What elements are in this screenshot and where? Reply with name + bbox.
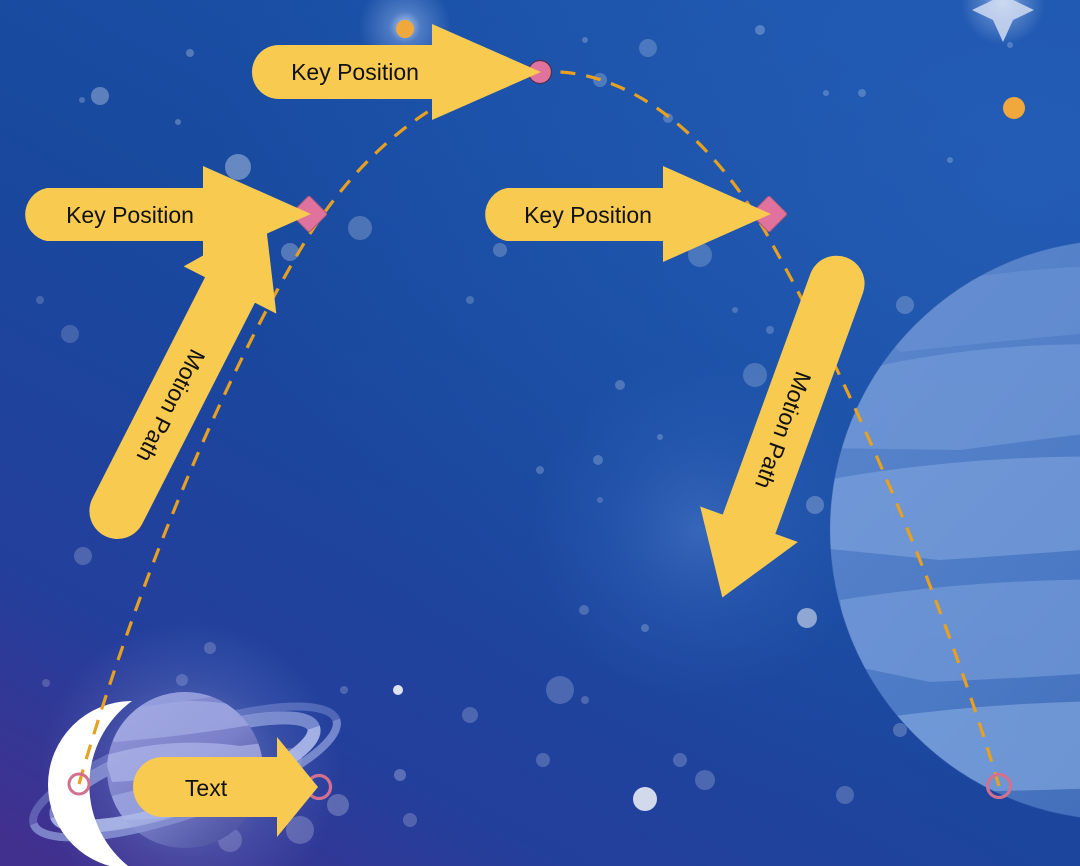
callout-label: Key Position [66, 202, 194, 228]
orange-dot-top [396, 20, 414, 38]
orange-dot-right [1003, 97, 1025, 119]
scene-svg: Key Position Key Position Key Position M… [0, 0, 1080, 866]
callout-label: Key Position [524, 202, 652, 228]
motion-path-diagram-canvas: Key Position Key Position Key Position M… [0, 0, 1080, 866]
callout-label: Text [185, 775, 228, 801]
callout-label: Key Position [291, 59, 419, 85]
